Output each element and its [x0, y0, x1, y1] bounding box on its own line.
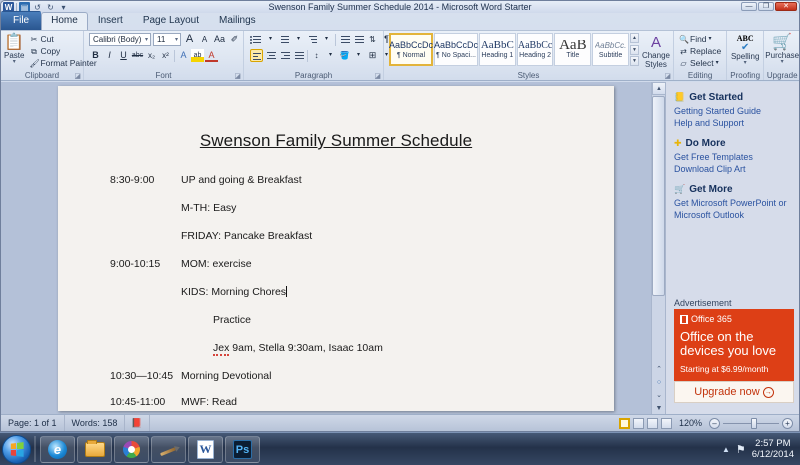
styles-gallery-scroll[interactable]: ▲ ▼ ▼ [630, 33, 639, 66]
schedule-time: 9:00-10:15 [110, 258, 160, 270]
clock-time: 2:57 PM [752, 438, 794, 449]
change-styles-label-1: Change [642, 51, 670, 60]
style-heading-1[interactable]: AaBbC Heading 1 [479, 33, 516, 66]
taskbar-internet-explorer[interactable]: e [40, 436, 75, 463]
spelling-caret-icon[interactable]: ▾ [744, 61, 747, 66]
ad-headline-line2: devices you love [680, 344, 788, 358]
font-color-icon[interactable]: A [205, 49, 218, 62]
replace-button[interactable]: ⇄ Replace [677, 46, 723, 57]
multilevel-list-icon[interactable] [306, 33, 319, 46]
ribbon-group-editing: 🔍 Find ▾ ⇄ Replace ▱ Select ▾ [674, 31, 727, 80]
superscript-button[interactable]: x² [159, 49, 172, 62]
pointer-icon: ▱ [679, 58, 688, 69]
find-button[interactable]: 🔍 Find ▾ [677, 34, 723, 45]
vertical-scrollbar[interactable]: ▲ ⌃ ○ ⌄ ▼ [651, 82, 665, 415]
grow-font-icon[interactable]: A [183, 33, 196, 46]
start-button[interactable] [2, 435, 31, 464]
shading-icon[interactable]: 🪣 [338, 49, 351, 62]
style-subtitle[interactable]: AaBbCc. Subtitle [592, 33, 629, 66]
book-icon: 📒 [674, 92, 685, 103]
find-label: Find [690, 34, 707, 45]
paste-caret-icon[interactable]: ▾ [13, 60, 16, 65]
justify-icon[interactable] [292, 49, 305, 62]
ribbon-group-proofing: ABC ✔ Spelling ▾ Proofing [727, 31, 764, 80]
shading-caret-icon[interactable]: ▾ [352, 49, 365, 62]
upgrade-now-button[interactable]: Upgrade now → [674, 381, 794, 403]
page-count[interactable]: Page: 1 of 1 [1, 415, 65, 431]
style-name: ¶ Normal [397, 51, 425, 60]
scissors-icon: ✂ [29, 34, 38, 45]
replace-icon: ⇄ [679, 46, 688, 57]
style-preview: AaBbCc [518, 40, 552, 51]
multilevel-caret-icon[interactable]: ▾ [320, 33, 333, 46]
document-work-area: Swenson Family Summer Schedule 8:30-9:00… [1, 82, 800, 415]
plus-icon: ✚ [674, 138, 682, 149]
spelling-status-icon[interactable]: 📕 [125, 415, 149, 431]
minimize-button[interactable]: — [741, 2, 757, 11]
system-tray: ▲ ⚑ 2:57 PM 6/12/2014 [722, 438, 800, 460]
copy-icon: ⧉ [29, 46, 38, 57]
paintbrush-icon: 🖌 [29, 58, 38, 69]
link-get-powerpoint-or-outlook[interactable]: Get Microsoft PowerPoint or Microsoft Ou… [674, 197, 795, 221]
link-help-and-support[interactable]: Help and Support [674, 117, 795, 129]
align-right-icon[interactable] [278, 49, 291, 62]
section-heading-get-more: 🛒 Get More [674, 184, 795, 195]
line-spacing-caret-icon[interactable]: ▾ [324, 49, 337, 62]
misspelled-word: Jex [213, 342, 229, 356]
paragraph-dialog-launcher[interactable]: ◪ [374, 72, 381, 80]
clock-date: 6/12/2014 [752, 449, 794, 460]
tab-home[interactable]: Home [41, 12, 88, 30]
do-more-heading: Do More [686, 138, 726, 149]
style-no-spacing[interactable]: AaBbCcDc ¶ No Spaci... [434, 33, 478, 66]
style-preview: AaBbC [481, 40, 514, 51]
decrease-indent-icon[interactable] [338, 33, 351, 46]
font-size-combo[interactable]: 11 [153, 33, 181, 46]
view-draft-button[interactable] [661, 418, 672, 429]
text-effects-icon[interactable]: A [177, 49, 190, 62]
purchase-button[interactable]: 🛒 Purchase ▾ [767, 33, 797, 65]
paste-button[interactable]: 📋 Paste ▾ [4, 33, 24, 65]
office-logo-icon [680, 315, 688, 324]
purchase-caret-icon[interactable]: ▾ [781, 60, 784, 65]
view-web-layout-button[interactable] [647, 418, 658, 429]
upgrade-group-label: Upgrade [764, 71, 800, 80]
paste-icon: 📋 [4, 34, 24, 51]
schedule-text: MOM: exercise [181, 258, 252, 270]
underline-button[interactable]: U [117, 49, 130, 62]
font-group-label: Font [84, 71, 243, 80]
scroll-up-icon[interactable]: ▲ [652, 82, 666, 95]
zoom-slider[interactable]: – + [709, 418, 793, 429]
document-body[interactable]: Swenson Family Summer Schedule 8:30-9:00… [58, 86, 614, 411]
scrollbar-thumb[interactable] [652, 96, 665, 296]
upgrade-now-label: Upgrade now [694, 386, 759, 398]
numbering-icon[interactable] [278, 33, 291, 46]
ad-brand-label: Office 365 [691, 314, 732, 324]
link-get-free-templates[interactable]: Get Free Templates [674, 151, 795, 163]
style-name: Title [566, 51, 579, 60]
schedule-text: UP and going & Breakfast [181, 174, 302, 186]
styles-dialog-launcher[interactable]: ◪ [664, 72, 671, 80]
document-heading: Swenson Family Summer Schedule [58, 131, 614, 151]
sort-icon[interactable]: ⇅ [366, 33, 379, 46]
taskbar-divider [34, 436, 36, 462]
taskbar-windows-explorer[interactable] [77, 436, 112, 463]
cut-label: Cut [40, 34, 53, 45]
schedule-text: M-TH: Easy [181, 202, 236, 214]
style-name: Subtitle [599, 51, 622, 60]
picasa-icon [123, 441, 140, 458]
ad-brand: Office 365 [680, 314, 788, 324]
status-bar: Page: 1 of 1 Words: 158 📕 120% – + [1, 414, 800, 431]
bullets-caret-icon[interactable]: ▾ [264, 33, 277, 46]
style-name: Heading 1 [481, 51, 513, 60]
spelling-button[interactable]: ABC ✔ Spelling ▾ [730, 33, 760, 66]
clipboard-dialog-launcher[interactable]: ◪ [74, 72, 81, 80]
zoom-track[interactable] [723, 423, 779, 424]
borders-icon[interactable]: ⊞ [366, 49, 379, 62]
font-name-combo[interactable]: Calibri (Body) [89, 33, 151, 46]
taskbar-snipping-tool[interactable] [151, 436, 186, 463]
maximize-button[interactable]: ❐ [758, 2, 774, 11]
ribbon-group-upgrade: 🛒 Purchase ▾ Upgrade [764, 31, 800, 80]
binoculars-icon: 🔍 [679, 34, 688, 45]
style-name: ¶ No Spaci... [436, 51, 476, 60]
ribbon-tab-bar: File Home Insert Page Layout Mailings [1, 13, 799, 30]
clear-formatting-icon[interactable]: ✐ [228, 33, 241, 46]
photoshop-icon: Ps [233, 440, 252, 459]
link-getting-started-guide[interactable]: Getting Started Guide [674, 105, 795, 117]
folder-icon [85, 442, 105, 457]
shopping-cart-icon: 🛒 [772, 34, 792, 51]
text-cursor [286, 286, 287, 297]
schedule-text: Practice [213, 314, 251, 326]
action-center-icon[interactable]: ⚑ [736, 443, 746, 456]
view-print-layout-button[interactable] [619, 418, 630, 429]
schedule-time: 8:30-9:00 [110, 174, 154, 186]
bold-button[interactable]: B [89, 49, 102, 62]
change-styles-label-2: Styles [645, 60, 667, 69]
link-download-clip-art[interactable]: Download Clip Art [674, 163, 795, 175]
schedule-text: Morning Devotional [181, 370, 271, 382]
ribbon-group-font: Calibri (Body) 11 A A Aa ✐ B I U abc x₂ … [84, 31, 244, 80]
internet-explorer-icon: e [48, 440, 67, 459]
italic-button[interactable]: I [103, 49, 116, 62]
advertisement-label: Advertisement [674, 298, 732, 308]
window-controls[interactable]: — ❐ ✕ [741, 2, 797, 11]
ad-headline-line1: Office on the [680, 330, 788, 344]
schedule-time: 10:45-11:00 [110, 396, 165, 408]
word-icon: W [197, 440, 214, 459]
ad-price: Starting at $6.99/month [680, 364, 788, 374]
select-button[interactable]: ▱ Select ▾ [677, 58, 723, 69]
styles-more-icon[interactable]: ▼ [630, 56, 639, 66]
taskbar-photoshop[interactable]: Ps [225, 436, 260, 463]
schedule-time: 10:30—10:45 [110, 370, 173, 382]
side-panel: 📒 Get Started Getting Started Guide Help… [665, 82, 800, 415]
style-heading-2[interactable]: AaBbCc Heading 2 [517, 33, 554, 66]
schedule-text: KIDS: Morning Chores [181, 286, 287, 298]
section-heading-do-more: ✚ Do More [674, 138, 795, 149]
find-caret-icon[interactable]: ▾ [709, 34, 712, 45]
schedule-text: Jex 9am, Stella 9:30am, Isaac 10am [213, 342, 383, 354]
styles-scroll-up-icon[interactable]: ▲ [630, 33, 639, 43]
clock[interactable]: 2:57 PM 6/12/2014 [752, 438, 794, 460]
style-preview: AaBbCc. [595, 40, 627, 51]
style-normal[interactable]: AaBbCcDc ¶ Normal [389, 33, 433, 66]
get-more-heading: Get More [689, 184, 732, 195]
document-page[interactable]: Swenson Family Summer Schedule 8:30-9:00… [58, 86, 614, 411]
line-spacing-icon[interactable]: ↕ [310, 49, 323, 62]
select-caret-icon[interactable]: ▾ [716, 58, 719, 69]
editing-group-label: Editing [674, 71, 726, 80]
close-button[interactable]: ✕ [775, 2, 797, 11]
application-window: W ▤ ↺ ↻ ▾ Swenson Family Summer Schedule… [0, 0, 800, 432]
word-starter-window: W ▤ ↺ ↻ ▾ Swenson Family Summer Schedule… [0, 0, 800, 465]
zoom-out-button[interactable]: – [709, 418, 720, 429]
style-title[interactable]: AaB Title [554, 33, 591, 66]
taskbar-microsoft-word[interactable]: W [188, 436, 223, 463]
copy-label: Copy [40, 46, 60, 57]
strikethrough-button[interactable]: abc [131, 49, 144, 62]
schedule-text-value: KIDS: Morning Chores [181, 286, 286, 298]
increase-indent-icon[interactable] [352, 33, 365, 46]
clipboard-group-label: Clipboard [1, 71, 83, 80]
shrink-font-icon[interactable]: A [198, 33, 211, 46]
ribbon-group-clipboard: 📋 Paste ▾ ✂ Cut ⧉ Copy [1, 31, 84, 80]
tab-insert[interactable]: Insert [88, 12, 133, 30]
change-styles-button[interactable]: A Change Styles [642, 33, 670, 69]
schedule-text: MWF: Read [181, 396, 237, 408]
numbering-caret-icon[interactable]: ▾ [292, 33, 305, 46]
subscript-button[interactable]: x₂ [145, 49, 158, 62]
ribbon-group-paragraph: ▾ ▾ ▾ ⇅ ¶ [244, 31, 384, 80]
style-name: Heading 2 [519, 51, 551, 60]
change-styles-icon: A [651, 34, 661, 51]
show-hidden-icons-button[interactable]: ▲ [722, 445, 730, 454]
font-dialog-launcher[interactable]: ◪ [234, 72, 241, 80]
arrow-right-icon: → [763, 387, 774, 398]
ad-banner[interactable]: Office 365 Office on the devices you lov… [674, 309, 794, 381]
cart-icon: 🛒 [674, 184, 685, 195]
ribbon: 📋 Paste ▾ ✂ Cut ⧉ Copy [1, 30, 799, 81]
windows-logo-icon [11, 442, 24, 457]
advertisement[interactable]: Office 365 Office on the devices you lov… [674, 309, 794, 403]
zoom-thumb[interactable] [751, 418, 757, 429]
style-preview: AaB [559, 40, 587, 51]
font-divider [174, 50, 175, 62]
tab-file[interactable]: File [1, 11, 41, 30]
bullets-icon[interactable] [250, 33, 263, 46]
section-heading-get-started: 📒 Get Started [674, 92, 795, 103]
paragraph-group-label: Paragraph [244, 71, 383, 80]
view-full-screen-reading-button[interactable] [633, 418, 644, 429]
scroll-object-buttons[interactable]: ⌃ ○ ⌄ ▼ [652, 363, 666, 415]
tab-mailings[interactable]: Mailings [209, 12, 266, 30]
change-case-icon[interactable]: Aa [213, 33, 226, 46]
taskbar-picasa[interactable] [114, 436, 149, 463]
ribbon-group-styles: AaBbCcDc ¶ Normal AaBbCcDc ¶ No Spaci...… [384, 31, 674, 80]
get-started-heading: Get Started [689, 92, 743, 103]
word-count[interactable]: Words: 158 [65, 415, 126, 431]
zoom-in-button[interactable]: + [782, 418, 793, 429]
next-page-icon[interactable]: ⌄ [652, 389, 666, 402]
align-left-icon[interactable] [250, 49, 263, 62]
snipping-tool-icon [159, 441, 179, 457]
schedule-text: FRIDAY: Pancake Breakfast [181, 230, 312, 242]
styles-group-label: Styles [384, 71, 673, 80]
select-browse-object-icon[interactable]: ○ [652, 376, 666, 389]
select-label: Select [690, 58, 714, 69]
style-preview: AaBbCcDc [434, 40, 478, 51]
styles-scroll-down-icon[interactable]: ▼ [630, 45, 639, 55]
replace-label: Replace [690, 46, 721, 57]
zoom-level[interactable]: 120% [675, 418, 706, 428]
highlight-color-icon[interactable]: ab [191, 49, 204, 62]
tab-page-layout[interactable]: Page Layout [133, 12, 209, 30]
style-preview: AaBbCcDc [389, 40, 433, 51]
status-right-group: 120% – + [619, 418, 800, 429]
checkmark-icon: ✔ [741, 43, 749, 52]
align-center-icon[interactable] [264, 49, 277, 62]
windows-taskbar: e W Ps ▲ ⚑ 2:57 PM 6/12/2014 [0, 432, 800, 465]
previous-page-icon[interactable]: ⌃ [652, 363, 666, 376]
proofing-group-label: Proofing [727, 71, 763, 80]
